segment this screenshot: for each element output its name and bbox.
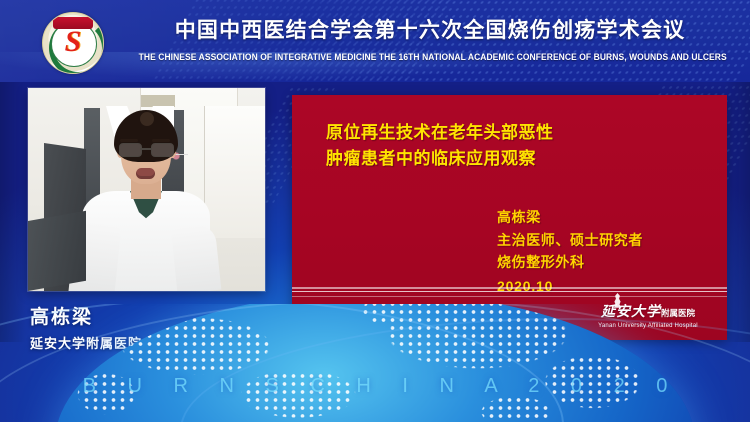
broadcast-frame: S 中国中西医结合学会第十六次全国烧伤创疡学术会议 THE CHINESE AS… xyxy=(0,0,750,422)
conference-header-banner: S 中国中西医结合学会第十六次全国烧伤创疡学术会议 THE CHINESE AS… xyxy=(0,0,750,82)
association-logo-s-icon: S xyxy=(38,12,106,72)
slide-divider-line-3 xyxy=(292,296,727,297)
presenter-department: 烧伤整形外科 xyxy=(497,252,643,275)
conference-title-english: THE CHINESE ASSOCIATION OF INTEGRATIVE M… xyxy=(139,52,722,62)
mouth xyxy=(136,168,155,179)
conference-title-chinese: 中国中西医结合学会第十六次全国烧伤创疡学术会议 xyxy=(120,14,740,44)
header-text-group: 中国中西医结合学会第十六次全国烧伤创疡学术会议 THE CHINESE ASSO… xyxy=(120,14,740,62)
slide-title-line-2: 肿瘤患者中的临床应用观察 xyxy=(326,146,616,172)
slide-title: 原位再生技术在老年头部恶性 肿瘤患者中的临床应用观察 xyxy=(326,120,616,173)
speaker-video-panel[interactable] xyxy=(28,88,265,291)
arm-right xyxy=(171,224,222,291)
glasses-icon xyxy=(118,143,174,156)
slide-divider-line-1 xyxy=(292,287,727,289)
presenter-name: 高栋梁 xyxy=(497,207,643,230)
video-background-room xyxy=(28,88,265,291)
right-vignette xyxy=(724,82,750,342)
glasses-bridge xyxy=(140,148,151,150)
slide-title-line-1: 原位再生技术在老年头部恶性 xyxy=(326,120,616,146)
glasses-lens-right xyxy=(151,143,174,157)
globe-footer-graphic xyxy=(0,304,750,422)
glasses-lens-left xyxy=(119,143,142,157)
association-logo: S xyxy=(38,12,106,72)
eyebrow-left xyxy=(120,139,138,142)
slide-divider-line-2 xyxy=(292,291,727,292)
foreground-object xyxy=(28,211,86,291)
speaker-figure xyxy=(76,106,216,291)
eyebrow-right xyxy=(152,139,170,142)
presenter-info-block: 高栋梁 主治医师、硕士研究者 烧伤整形外科 2020.10 xyxy=(497,207,643,298)
presenter-title: 主治医师、硕士研究者 xyxy=(497,230,643,253)
